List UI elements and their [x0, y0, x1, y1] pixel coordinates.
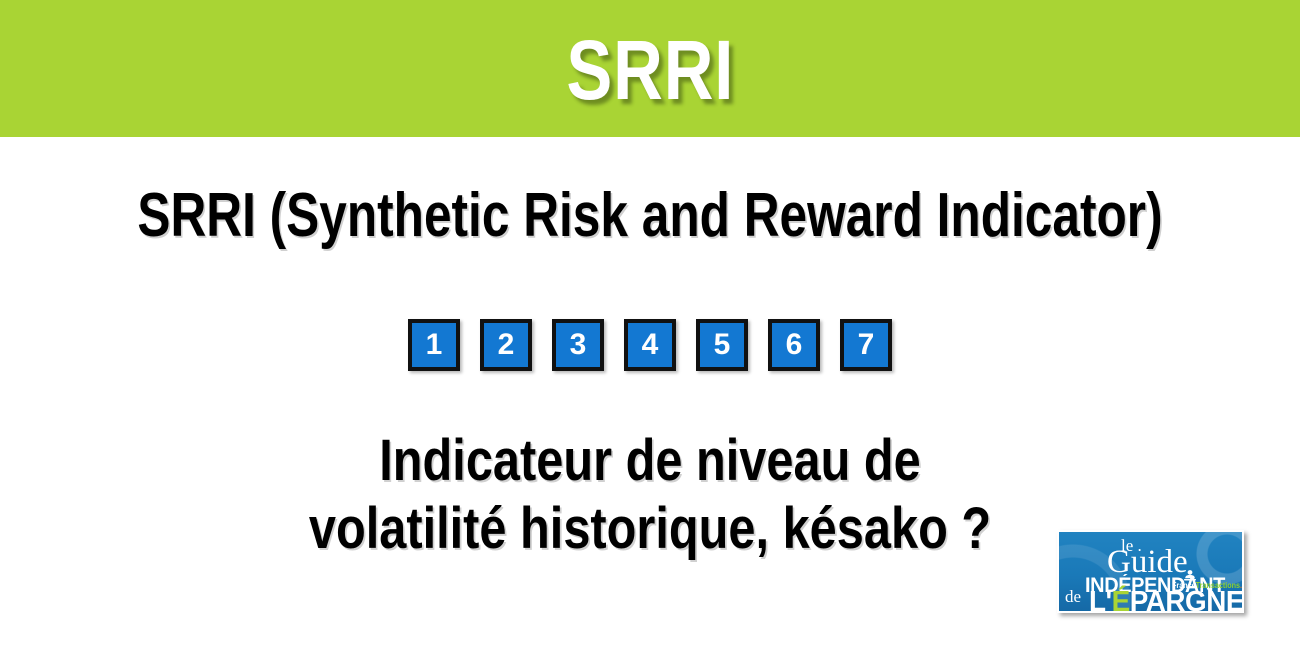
srri-level-5[interactable]: 5 [696, 319, 748, 371]
logo-source-france: France [1172, 581, 1196, 590]
logo-text-de: de [1065, 588, 1081, 605]
logo-source-tld: .com [1240, 581, 1244, 590]
tagline: Indicateur de niveau de volatilité histo… [104, 427, 1196, 563]
srri-level-4[interactable]: 4 [624, 319, 676, 371]
page-title: SRRI [566, 28, 734, 112]
person-mark-icon [1183, 570, 1197, 582]
srri-level-6[interactable]: 6 [768, 319, 820, 371]
srri-level-7[interactable]: 7 [840, 319, 892, 371]
srri-scale: 1 2 3 4 5 6 7 [0, 319, 1300, 371]
srri-level-2[interactable]: 2 [480, 319, 532, 371]
logo-source-attribution: FranceTransactions.com [1172, 582, 1244, 590]
srri-level-3[interactable]: 3 [552, 319, 604, 371]
logo-text-epargne: L'ÉPARGNE [1089, 588, 1244, 613]
brand-logo[interactable]: le . Guide INDÉPENDANT de L'ÉPARGNE Fran… [1057, 530, 1244, 613]
tagline-line-1: Indicateur de niveau de [104, 427, 1196, 495]
logo-epargne-prefix: L' [1089, 586, 1112, 613]
logo-epargne-accent: É [1112, 586, 1130, 613]
subtitle-heading: SRRI (Synthetic Risk and Reward Indicato… [130, 185, 1170, 247]
logo-source-transactions: Transactions [1196, 581, 1240, 590]
tagline-line-2: volatilité historique, késako ? [104, 495, 1196, 563]
srri-level-1[interactable]: 1 [408, 319, 460, 371]
logo-epargne-suffix: PARGNE [1130, 586, 1244, 613]
header-banner: SRRI [0, 0, 1300, 137]
